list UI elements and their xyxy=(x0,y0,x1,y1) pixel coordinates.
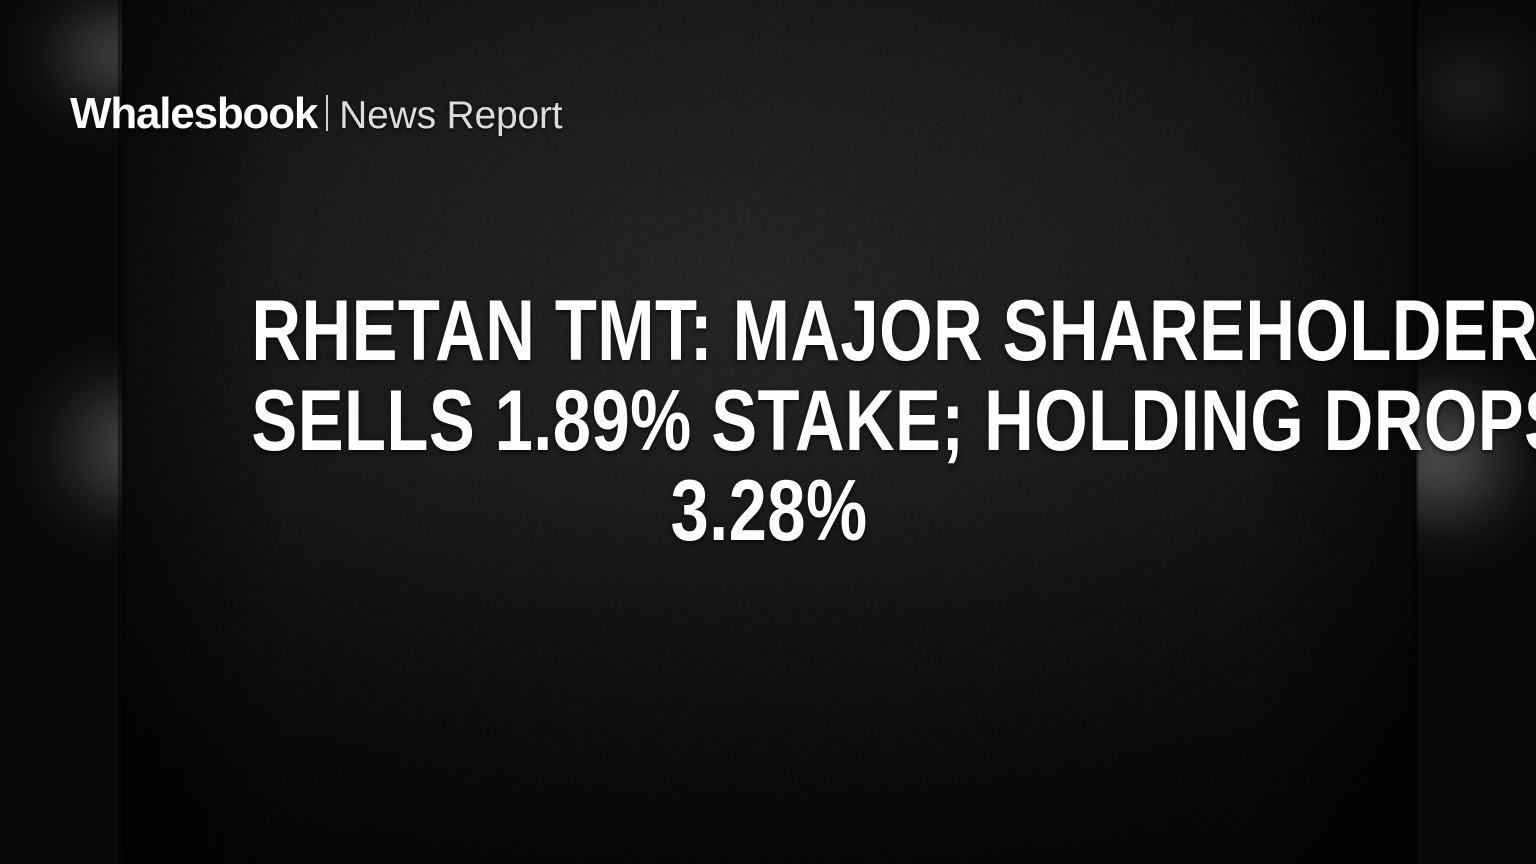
brand-lockup: Whalesbook News Report xyxy=(70,92,562,136)
brand-name: Whalesbook xyxy=(70,92,317,136)
headline-line-3: 3.28% xyxy=(251,466,1286,556)
backdrop-glow-top-right xyxy=(1400,30,1536,150)
headline-line-1: RHETAN TMT: MAJOR SHAREHOLDER xyxy=(251,286,1286,376)
headline: RHETAN TMT: MAJOR SHAREHOLDER SELLS 1.89… xyxy=(122,286,1416,556)
brand-divider-icon xyxy=(326,95,328,131)
brand-subtitle: News Report xyxy=(339,96,562,135)
headline-line-2: SELLS 1.89% STAKE; HOLDING DROPS TO xyxy=(251,376,1286,466)
news-card: Whalesbook News Report RHETAN TMT: MAJOR… xyxy=(0,0,1536,864)
